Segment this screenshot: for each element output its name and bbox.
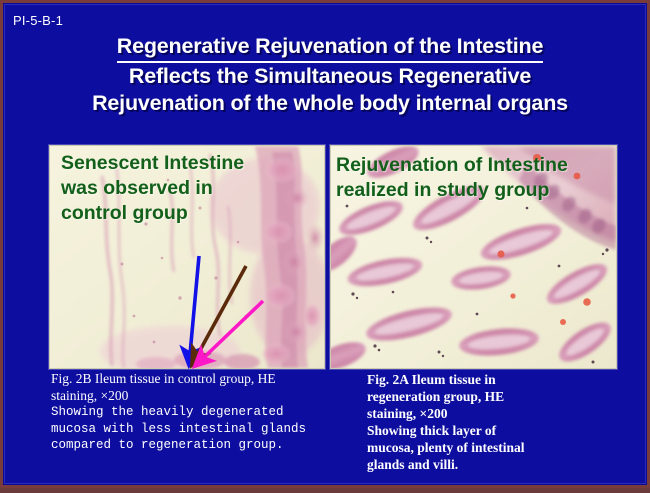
cap-right-line-1: Fig. 2A Ileum tissue in xyxy=(367,371,605,388)
figure-2b-caption: Fig. 2B Ileum tissue in control group, H… xyxy=(51,371,317,454)
cap-left-mono-line-1: Showing the heavily degenerated xyxy=(51,404,317,421)
histology-image-control-group xyxy=(49,145,325,369)
cap-right-line-5: mucosa, plenty of intestinal xyxy=(367,439,605,456)
title-line-1: Regenerative Rejuvenation of the Intesti… xyxy=(117,33,543,63)
regeneration-group-tissue-render xyxy=(331,146,616,368)
figure-2a-caption: Fig. 2A Ileum tissue in regeneration gro… xyxy=(367,371,605,473)
title-line-1-wrap: Regenerative Rejuvenation of the Intesti… xyxy=(5,33,650,63)
presentation-slide: PI-5-B-1 Regenerative Rejuvenation of th… xyxy=(0,0,650,488)
cap-left-mono-line-2: mucosa with less intestinal glands xyxy=(51,421,317,438)
cap-left-mono-line-3: compared to regeneration group. xyxy=(51,437,317,454)
cap-right-line-6: glands and villi. xyxy=(367,456,605,473)
slide-inner-frame: PI-5-B-1 Regenerative Rejuvenation of th… xyxy=(4,4,646,484)
title-line-2: Reflects the Simultaneous Regenerative xyxy=(5,63,650,90)
cap-left-serif-line-2: staining, ×200 xyxy=(51,388,317,405)
histology-image-regeneration-group xyxy=(330,145,617,369)
title-line-3: Rejuvenation of the whole body internal … xyxy=(5,90,650,117)
cap-right-line-2: regeneration group, HE xyxy=(367,388,605,405)
control-group-tissue-render xyxy=(50,146,324,368)
cap-right-line-4: Showing thick layer of xyxy=(367,422,605,439)
cap-right-line-3: staining, ×200 xyxy=(367,405,605,422)
cap-left-serif-line-1: Fig. 2B Ileum tissue in control group, H… xyxy=(51,371,317,388)
page-title: Regenerative Rejuvenation of the Intesti… xyxy=(5,33,650,117)
slide-id-label: PI-5-B-1 xyxy=(13,13,63,28)
